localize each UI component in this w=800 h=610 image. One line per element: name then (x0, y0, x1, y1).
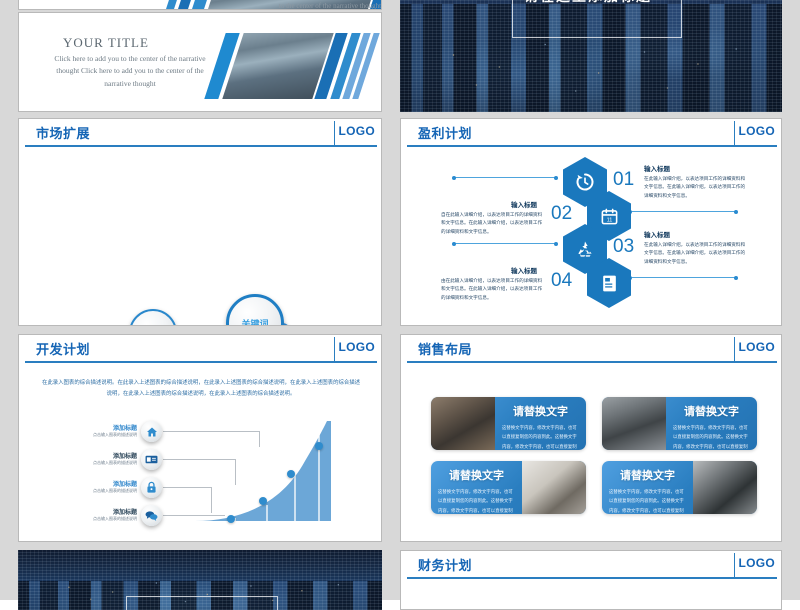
item-number-01: 01 (613, 169, 634, 191)
connector-line (453, 177, 557, 178)
header-divider (734, 121, 735, 145)
card-body-text: 这替换文字内容，修改文字内容，也可以直接复制您的内容到此。这替换文字内容，修改文… (438, 487, 515, 514)
slide-header: 盈利计划 LOGO (401, 119, 781, 146)
dev-item-title-2: 添加标题 (81, 451, 137, 460)
item-title-02: 输入标题 (511, 199, 537, 209)
slide-header: 开发计划 LOGO (19, 335, 381, 362)
refresh-icon (575, 172, 595, 192)
intro-text: 在此录入图表的综合描述说明。在此录入上述图表的综合描述说明，在此录入上述图表的综… (41, 378, 361, 401)
logo-placeholder: LOGO (738, 556, 775, 570)
title-frame (126, 596, 278, 610)
item-body-02: 自在此输入详细介绍，以表达项目工作的详细资料和文字信息。在此输入详细介绍，以表达… (441, 211, 543, 236)
dev-item-sub-1: 点击输入图表的描述说明 (61, 432, 137, 438)
slide-header-title: 市场扩展 (36, 123, 90, 142)
header-rule (25, 145, 377, 147)
logo-placeholder: LOGO (338, 340, 375, 354)
home-icon (146, 426, 158, 438)
item-number-03: 03 (613, 236, 634, 258)
dev-item-sub-4: 点击输入图表的描述说明 (61, 516, 137, 522)
header-rule (25, 361, 377, 363)
slide-header: 财务计划 LOGO (401, 551, 781, 578)
item-title-04: 输入标题 (511, 265, 537, 275)
keyword-node-2[interactable]: 关键词 (129, 309, 177, 325)
sales-card-2[interactable]: 请替换文字 这替换文字内容，修改文字内容，也可以直接复制您的内容到此。这替换文字… (602, 397, 757, 450)
card-title: 请替换文字 (609, 467, 686, 483)
leader-line (259, 431, 261, 447)
item-title-01: 输入标题 (644, 163, 670, 173)
item-body-03: 在此输入详细介绍，以表达项目工作的详细资料和文字信息。在此输入详细介绍，以表达项… (644, 241, 746, 266)
dev-item-title-4: 添加标题 (81, 507, 137, 516)
card-image-desk-computer (431, 397, 495, 450)
leader-line (235, 459, 237, 485)
card-title: 请替换文字 (438, 467, 515, 483)
header-rule (407, 361, 777, 363)
header-divider (734, 337, 735, 361)
header-rule (407, 145, 777, 147)
chat-icon (145, 510, 158, 521)
document-icon (601, 274, 618, 293)
connector-line (629, 211, 737, 212)
leader-line (163, 515, 225, 517)
header-rule (407, 577, 777, 579)
slide-header-title: 开发计划 (36, 339, 90, 358)
dev-icon-4[interactable] (141, 505, 162, 526)
dev-icon-3[interactable] (141, 477, 162, 498)
card-image-notebook-laptop (522, 461, 586, 514)
leader-line (163, 487, 211, 489)
slide-sales-layout[interactable]: 销售布局 LOGO 请替换文字 这替换文字内容，修改文字内容，也可以直接复制您的… (400, 334, 782, 542)
lock-icon (146, 481, 157, 494)
slide-finance-plan[interactable]: 财务计划 LOGO (400, 550, 782, 610)
curve-point (259, 497, 267, 505)
logo-placeholder: LOGO (338, 124, 375, 138)
recycle-icon (575, 239, 595, 259)
sales-card-3[interactable]: 请替换文字 这替换文字内容，修改文字内容，也可以直接复制您的内容到此。这替换文字… (431, 461, 586, 514)
card-title: 请替换文字 (673, 403, 750, 419)
curve-point (315, 442, 323, 450)
keyword-label: 关键词 (241, 317, 268, 326)
card-icon (145, 454, 158, 465)
item-number-04: 04 (551, 270, 572, 292)
card-image-camera (693, 461, 757, 514)
connector-line (629, 277, 737, 278)
dev-icon-1[interactable] (141, 421, 162, 442)
leader-line (211, 487, 213, 513)
slide-header-title: 财务计划 (418, 555, 472, 574)
dev-item-sub-3: 点击输入图表的描述说明 (61, 488, 137, 494)
card-body-text: 这替换文字内容，修改文字内容，也可以直接复制您的内容到此。这替换文字内容，修改文… (502, 423, 579, 450)
curve-point (287, 470, 295, 478)
dev-icon-2[interactable] (141, 449, 162, 470)
sales-card-1[interactable]: 请替换文字 这替换文字内容，修改文字内容，也可以直接复制您的内容到此。这替换文字… (431, 397, 586, 450)
logo-placeholder: LOGO (738, 340, 775, 354)
slide-cover-strip-partial[interactable]: to the center of the narrative thought (18, 0, 382, 10)
cover-strip-text: to the center of the narrative thought (245, 1, 381, 9)
leader-line (163, 459, 235, 461)
header-divider (334, 121, 335, 145)
card-title: 请替换文字 (502, 403, 579, 419)
slide-header: 市场扩展 LOGO (19, 119, 381, 146)
dev-item-sub-2: 点击输入图表的描述说明 (61, 460, 137, 466)
keyword-node-4[interactable]: 关键词 (226, 294, 284, 325)
deco-stripe (187, 0, 210, 9)
item-body-04: 由在此输入详细介绍，以表达项目工作的详细资料和文字信息。在此输入详细介绍，以表达… (441, 277, 543, 302)
item-number-02: 02 (551, 203, 572, 225)
curve-point (227, 515, 235, 523)
logo-placeholder: LOGO (738, 124, 775, 138)
slide-header: 销售布局 LOGO (401, 335, 781, 362)
slide-profit-plan[interactable]: 盈利计划 LOGO 11 (400, 118, 782, 326)
card-body-text: 这替换文字内容，修改文字内容，也可以直接复制您的内容到此。这替换文字内容，修改文… (609, 487, 686, 514)
sales-card-4[interactable]: 请替换文字 这替换文字内容，修改文字内容，也可以直接复制您的内容到此。这替换文字… (602, 461, 757, 514)
calendar-icon: 11 (600, 207, 619, 226)
leader-line (163, 431, 259, 448)
header-divider (334, 337, 335, 361)
city-slide-title: 请在这里添加标题 (524, 0, 652, 6)
card-body-text: 这替换文字内容，修改文字内容，也可以直接复制您的内容到此。这替换文字内容，修改文… (673, 423, 750, 450)
slide-header-title: 盈利计划 (418, 123, 472, 142)
card-image-office-desk (602, 397, 666, 450)
slide-harbour-photo[interactable] (18, 550, 382, 610)
slide-cover[interactable]: YOUR TITLE Click here to add you to the … (18, 12, 382, 112)
dev-item-title-3: 添加标题 (81, 479, 137, 488)
svg-text:11: 11 (606, 217, 612, 223)
cover-title: YOUR TITLE (63, 35, 149, 51)
slide-market-expansion[interactable]: 市场扩展 LOGO 关键词 关键词 关键词 (18, 118, 382, 326)
item-title-03: 输入标题 (644, 229, 670, 239)
connector-line (453, 243, 557, 244)
dev-item-title-1: 添加标题 (81, 423, 137, 432)
header-divider (734, 553, 735, 577)
item-body-01: 在此输入详细介绍，以表达项目工作的详细资料和文字信息。在此输入详细介绍，以表达项… (644, 175, 746, 200)
slide-header-title: 销售布局 (418, 339, 472, 358)
slide-development-plan[interactable]: 开发计划 LOGO 在此录入图表的综合描述说明。在此录入上述图表的综合描述说明，… (18, 334, 382, 542)
slide-deck-preview: to the center of the narrative thought Y… (0, 0, 800, 600)
cover-body: Click here to add you to the center of t… (45, 53, 215, 90)
slide-city-title[interactable]: 请在这里添加标题 (400, 0, 782, 112)
